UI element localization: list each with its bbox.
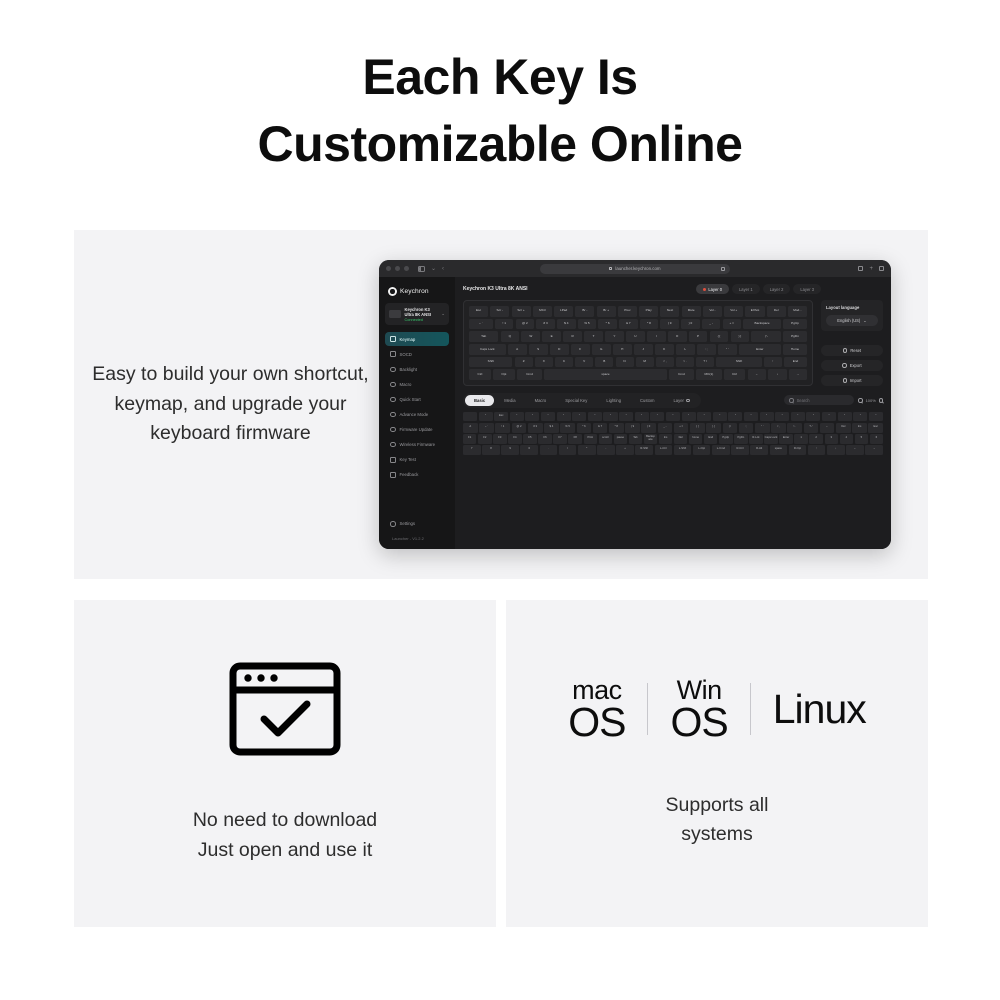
key-picker-key[interactable]: + [616, 445, 634, 455]
sidebar-item-label: Feedback [400, 472, 419, 477]
sidebar-item-label: Settings [400, 521, 416, 526]
key-picker-row: 7890./*-+R-ShftL-CtrlL-ShftL-OptL-CmdR-C… [463, 445, 883, 455]
keyboard-key[interactable]: Prev [618, 306, 637, 317]
export-icon [842, 363, 846, 367]
keyboard-key[interactable]: Mod... [788, 306, 807, 317]
export-button[interactable]: Export [821, 360, 883, 371]
keyboard-key[interactable]: ↑ [764, 357, 782, 368]
keyboard-key[interactable]: ↓ [768, 369, 786, 380]
keyboard-key[interactable]: F [571, 344, 590, 355]
key-picker-key[interactable]: ° [479, 412, 493, 422]
keyboard-key[interactable]: J [634, 344, 653, 355]
key-picker-key[interactable]: ° [806, 412, 820, 422]
macro-icon [390, 382, 396, 388]
keyboard-key[interactable]: X [535, 357, 553, 368]
sidebar-item-backlight[interactable]: Backlight [385, 362, 449, 376]
key-picker-key[interactable]: home [689, 434, 702, 444]
share-icon[interactable] [858, 266, 863, 271]
tab-layer[interactable]: Layer [664, 395, 698, 406]
key-picker-key[interactable]: ° [869, 412, 883, 422]
tab-label: Special Key [565, 398, 587, 403]
key-picker-key[interactable]: Esc [494, 412, 508, 422]
keyboard-key[interactable]: MO(1) [696, 369, 721, 380]
page-title: Each Key Is Customizable Online [0, 0, 1000, 177]
tab-lighting[interactable]: Lighting [597, 395, 630, 406]
sidebar-toggle-icon[interactable] [418, 266, 425, 272]
chevron-down-icon: ⌄ [863, 318, 866, 323]
advance-mode-icon [390, 412, 396, 418]
tab-label: Lighting [606, 398, 621, 403]
keyboard-key[interactable]: Del [767, 306, 786, 317]
key-picker-key[interactable] [463, 412, 477, 422]
key-picker-key[interactable]: * 8 [609, 423, 624, 433]
key-picker-key[interactable]: { [ [690, 423, 705, 433]
key-picker-key[interactable]: F7 [553, 434, 566, 444]
sidebar-item-macro[interactable]: Macro [385, 377, 449, 391]
sidebar-item-firmware-update[interactable]: Firmware Update [385, 423, 449, 437]
reset-icon [843, 348, 847, 352]
address-bar[interactable]: launcher.keychron.com [540, 264, 730, 274]
key-picker-key[interactable]: pause [614, 434, 627, 444]
keyboard-key[interactable]: ! 1 [495, 319, 514, 330]
key-picker-key[interactable]: # 3 [528, 423, 543, 433]
tab-label: Media [504, 398, 515, 403]
key-picker-key[interactable]: 0 [520, 445, 538, 455]
browser-window: ⌄ ‹ launcher.keychron.com + [379, 260, 891, 549]
key-picker-key[interactable]: scroll [599, 434, 612, 444]
backlight-icon [390, 367, 396, 373]
key-picker-key[interactable]: ° [603, 412, 617, 422]
keyboard-key[interactable]: → [789, 369, 807, 380]
keyboard-key[interactable]: @ 2 [516, 319, 535, 330]
layout-language-select[interactable]: English (US) ⌄ [826, 315, 878, 326]
keyboard-key[interactable]: < , [656, 357, 674, 368]
zoom-controls: 100% [858, 398, 883, 403]
key-picker-key[interactable]: ° [728, 412, 742, 422]
key-picker-key[interactable]: R-Lck [749, 434, 762, 444]
window-traffic-lights[interactable] [386, 266, 409, 271]
key-picker-key[interactable]: ° [713, 412, 727, 422]
key-picker-key[interactable]: ° [588, 412, 602, 422]
key-picker-key[interactable]: 2 [809, 434, 822, 444]
keychron-logo-icon [388, 287, 397, 296]
keyboard-key[interactable]: EXhot [745, 306, 764, 317]
keyboard-key[interactable]: ~ ` [469, 319, 493, 330]
keyboard-key[interactable]: Br - [575, 306, 594, 317]
key-picker-key[interactable]: " ' [755, 423, 770, 433]
os-macos: mac OS [568, 678, 625, 741]
panel-no-download: No need to download Just open and use it [74, 600, 496, 927]
browser-right-controls[interactable]: + [858, 266, 884, 272]
key-picker-key[interactable]: F3 [493, 434, 506, 444]
keyboard-key[interactable]: * 8 [640, 319, 659, 330]
tab-custom[interactable]: Custom [631, 395, 663, 406]
app-sidebar: Keychron Keychron K3 Ultra 8K ANSI Conne… [379, 277, 455, 549]
keyboard-key[interactable]: T [584, 331, 603, 342]
sidebar-item-label: Macro [400, 382, 412, 387]
keyboard-key[interactable]: Mute [682, 306, 701, 317]
key-picker-key[interactable]: F1 [463, 434, 476, 444]
keyboard-key[interactable]: M [636, 357, 654, 368]
key-picker-key[interactable]: . [540, 445, 558, 455]
keyboard-key[interactable]: A [508, 344, 527, 355]
zoom-in-icon[interactable] [879, 398, 883, 402]
key-picker-key[interactable]: Tab [629, 434, 642, 444]
keyboard-key[interactable]: N [616, 357, 634, 368]
keyboard-key[interactable]: } ] [731, 331, 750, 342]
keyboard-key[interactable]: Backspace [743, 319, 781, 330]
key-picker-key[interactable]: Ins [852, 423, 867, 433]
keyboard-key[interactable]: ? / [696, 357, 714, 368]
sidebar-item-socd[interactable]: SOCD [385, 347, 449, 361]
keyboard-key[interactable]: Vol + [724, 306, 743, 317]
export-button-label: Export [850, 363, 862, 368]
key-picker-key[interactable]: ↑ [808, 445, 826, 455]
keyboard-key[interactable]: ← [748, 369, 766, 380]
key-picker-key[interactable]: 9 [501, 445, 519, 455]
key-picker-key[interactable]: 4 [840, 434, 853, 444]
chevron-down-icon[interactable]: ⌄ [441, 311, 445, 317]
key-picker-key[interactable]: F5 [523, 434, 536, 444]
key-picker-key[interactable]: Caps Lock [764, 434, 777, 444]
keyboard-key[interactable]: " ' [718, 344, 737, 355]
layer-indicator-icon [703, 288, 706, 291]
sidebar-item-keymap[interactable]: Keymap [385, 332, 449, 346]
keyboard-key[interactable]: PgDn [783, 331, 807, 342]
tab-special-key[interactable]: Special Key [556, 395, 596, 406]
keyboard-key[interactable]: G [592, 344, 611, 355]
keymap-icon [390, 336, 396, 342]
keyboard-key[interactable]: Ctrl [469, 369, 491, 380]
key-picker-key[interactable]: ° [572, 412, 586, 422]
keyboard-key[interactable]: Caps Lock [469, 344, 506, 355]
tab-layer-3[interactable]: Layer 3 [793, 284, 821, 294]
no-download-caption-line-1: No need to download [193, 806, 377, 835]
key-picker-key[interactable]: ° [697, 412, 711, 422]
keyboard-key[interactable]: Z [515, 357, 533, 368]
key-picker-toolbar: Basic Media Macro Special Key Lighting C… [463, 393, 883, 408]
key-picker-key[interactable]: ? / [804, 423, 819, 433]
keyboard-key[interactable]: LPad [554, 306, 573, 317]
key-picker-key[interactable]: space [770, 445, 788, 455]
key-picker-key[interactable]: F4 [508, 434, 521, 444]
key-picker-key[interactable]: Del [674, 434, 687, 444]
headline-line-2: Customizable Online [0, 111, 1000, 178]
key-picker-key[interactable]: R-Ctrl [731, 445, 749, 455]
keyboard-key[interactable]: $ 4 [557, 319, 576, 330]
search-placeholder: Search [797, 398, 810, 403]
keyboard-key[interactable]: _ - [702, 319, 721, 330]
key-picker-grid[interactable]: °Esc°°°°°°°°°°°°°°°°°°°°°°°°A~ `! 1@ 2# … [463, 412, 883, 455]
keyboard-key[interactable]: ( 9 [660, 319, 679, 330]
sidebar-item-label: Quick Start [400, 397, 421, 402]
key-picker-key[interactable]: ← [846, 445, 864, 455]
keyboard-key[interactable]: I [647, 331, 666, 342]
keyboard-row: EscScr -Scr +MCtlLPadBr -Br +PrevPlayNex… [469, 306, 807, 317]
tab-media[interactable]: Media [495, 395, 524, 406]
keyboard-key[interactable]: K [655, 344, 674, 355]
keyboard-key[interactable]: P [689, 331, 708, 342]
reset-button-label: Reset [850, 348, 861, 353]
key-picker-key[interactable]: % 5 [560, 423, 575, 433]
tab-layer-0[interactable]: Layer 0 [696, 284, 729, 294]
sidebar-item-label: Keymap [400, 337, 416, 342]
keyboard-key[interactable]: L [676, 344, 695, 355]
keyboard-key[interactable]: Vol - [703, 306, 722, 317]
sidebar-item-quick-start[interactable]: Quick Start [385, 392, 449, 406]
no-download-caption: No need to download Just open and use it [193, 806, 377, 865]
tab-macro[interactable]: Macro [526, 395, 556, 406]
keyboard-key[interactable]: : ; [697, 344, 716, 355]
key-picker-key[interactable]: L-Ctrl [655, 445, 673, 455]
keyboard-key[interactable]: Next [660, 306, 679, 317]
tab-basic[interactable]: Basic [465, 395, 494, 406]
key-picker-key[interactable]: ↓ [827, 445, 845, 455]
key-picker-key[interactable]: Esc [868, 423, 883, 433]
key-picker-key[interactable]: _ - [658, 423, 673, 433]
keyboard-key[interactable]: C [555, 357, 573, 368]
divider [750, 683, 751, 735]
key-picker-key[interactable]: ° [619, 412, 633, 422]
key-picker-key[interactable]: - [597, 445, 615, 455]
keyboard-key[interactable]: Cmd [669, 369, 694, 380]
new-tab-icon[interactable]: + [869, 266, 873, 272]
keyboard-key[interactable]: H [613, 344, 632, 355]
keyboard-key[interactable]: O [668, 331, 687, 342]
layer-tab-label: Layer 1 [739, 287, 753, 292]
keyboard-key[interactable]: MCtl [533, 306, 552, 317]
key-picker-row: F1F2F3F4F5F6F7F8PrintscrollpauseTabBacks… [463, 434, 883, 444]
sidebar-item-label: Firmware Update [400, 427, 433, 432]
key-picker-key[interactable]: 3 [825, 434, 838, 444]
key-picker-key[interactable]: ° [510, 412, 524, 422]
launcher-copy-line-2: own shortcut, [253, 363, 369, 385]
key-picker-key[interactable]: → [865, 445, 883, 455]
key-picker-key[interactable]: @ 2 [512, 423, 527, 433]
key-picker-key[interactable]: ° [541, 412, 555, 422]
keyboard-key[interactable]: & 7 [619, 319, 638, 330]
keyboard-key[interactable]: Shift [716, 357, 761, 368]
key-picker-key[interactable]: < , [771, 423, 786, 433]
key-picker-key[interactable]: ° [650, 412, 664, 422]
keyboard-key[interactable]: Cmd [517, 369, 542, 380]
import-button[interactable]: Import [821, 375, 883, 386]
keyboard-key[interactable]: B [595, 357, 613, 368]
key-picker-key[interactable]: 8 [482, 445, 500, 455]
chevron-down-icon[interactable]: ⌄ [431, 266, 436, 272]
keyboard-key[interactable]: W [521, 331, 540, 342]
panel-launcher: Easy to build your own shortcut, keymap,… [74, 230, 928, 579]
keyboard-layout[interactable]: EscScr -Scr +MCtlLPadBr -Br +PrevPlayNex… [463, 300, 813, 386]
key-picker-key[interactable]: F6 [538, 434, 551, 444]
key-picker-key[interactable]: / [559, 445, 577, 455]
keyboard-key[interactable]: S [529, 344, 548, 355]
key-picker-key[interactable]: ~ ` [479, 423, 494, 433]
key-picker-key[interactable]: ° [853, 412, 867, 422]
import-icon [843, 378, 847, 382]
key-picker-key[interactable]: ! 1 [495, 423, 510, 433]
key-picker-key[interactable]: PgUp [719, 434, 732, 444]
layer-tab-label: Layer 3 [800, 287, 814, 292]
key-picker-key[interactable]: | \ [723, 423, 738, 433]
reset-button[interactable]: Reset [821, 345, 883, 356]
no-download-caption-line-2: Just open and use it [193, 836, 377, 865]
key-picker-key[interactable]: ° [775, 412, 789, 422]
keyboard-key[interactable]: Enter [739, 344, 781, 355]
feedback-icon [390, 472, 396, 478]
keyboard-key[interactable]: Br + [597, 306, 616, 317]
tab-layer-1[interactable]: Layer 1 [732, 284, 760, 294]
keyboard-key[interactable]: > . [676, 357, 694, 368]
browser-check-icon [229, 662, 341, 756]
key-picker-key[interactable]: L-Shft [674, 445, 692, 455]
os-macos-suffix: OS [568, 704, 625, 741]
keyboard-key[interactable]: % 5 [578, 319, 597, 330]
key-picker-key[interactable]: ° [791, 412, 805, 422]
device-selector[interactable]: Keychron K3 Ultra 8K ANSI Connected ⌄ [385, 303, 449, 325]
key-picker-key[interactable]: Ins [659, 434, 672, 444]
keyboard-key[interactable]: space [544, 369, 666, 380]
close-icon[interactable] [386, 266, 391, 271]
reload-icon[interactable] [721, 267, 725, 271]
key-picker-key[interactable]: 5 [855, 434, 868, 444]
search-icon [789, 398, 793, 402]
key-picker-key[interactable]: Print [584, 434, 597, 444]
brand-logo: Keychron [385, 285, 449, 303]
keyboard-key[interactable]: + = [723, 319, 742, 330]
key-picker-key[interactable]: A [463, 423, 478, 433]
key-picker-key[interactable]: 6 [870, 434, 883, 444]
keyboard-key[interactable]: E [542, 331, 561, 342]
zoom-out-icon[interactable] [858, 398, 862, 402]
key-picker-key[interactable]: ( 9 [625, 423, 640, 433]
keyboard-key[interactable]: Tab [469, 331, 498, 342]
key-picker-key[interactable]: R-Shft [635, 445, 653, 455]
key-picker-key[interactable]: F2 [478, 434, 491, 444]
key-picker-key[interactable]: ^ 6 [577, 423, 592, 433]
sidebar-item-settings[interactable]: Settings [385, 517, 449, 531]
key-picker-key[interactable]: ° [525, 412, 539, 422]
keyboard-key[interactable]: Play [639, 306, 658, 317]
sidebar-item-wireless-firmware[interactable]: Wireless Firmware [385, 438, 449, 452]
sidebar-item-label: Backlight [400, 367, 417, 372]
keyboard-key[interactable]: End [784, 357, 807, 368]
sidebar-item-feedback[interactable]: Feedback [385, 468, 449, 482]
keyboard-key[interactable]: Scr - [490, 306, 509, 317]
back-chevron-icon[interactable]: ‹ [442, 266, 444, 272]
keyboard-key[interactable]: U [626, 331, 645, 342]
zoom-level: 100% [866, 398, 876, 403]
launcher-copy-line-1: Easy to build your [92, 363, 247, 385]
keyboard-key[interactable]: ^ 6 [598, 319, 617, 330]
tab-overview-icon[interactable] [879, 266, 884, 271]
keyboard-key[interactable]: Home [783, 344, 807, 355]
supports-caption-line-1: Supports all [666, 791, 769, 820]
search-input[interactable]: Search [784, 395, 854, 405]
key-picker-key[interactable]: : ; [739, 423, 754, 433]
key-picker-key[interactable]: ° [635, 412, 649, 422]
key-picker-key[interactable]: 7 [463, 445, 481, 455]
key-picker-key[interactable]: L-Cmd [712, 445, 730, 455]
headline-line-1: Each Key Is [0, 44, 1000, 111]
keyboard-thumbnail-icon [389, 310, 401, 318]
keyboard-key[interactable]: PgUp [783, 319, 807, 330]
key-picker-key[interactable]: ° [822, 412, 836, 422]
keyboard-key[interactable]: Q [501, 331, 520, 342]
app-body: Keychron Keychron K3 Ultra 8K ANSI Conne… [379, 277, 891, 549]
key-picker-key[interactable]: F8 [568, 434, 581, 444]
minimize-icon[interactable] [395, 266, 400, 271]
key-picker-key[interactable]: R-Alt [750, 445, 768, 455]
sidebar-footer: Settings Launcher - V1.2.2 [385, 517, 449, 543]
sidebar-item-advance-mode[interactable]: Advance Mode [385, 407, 449, 421]
sidebar-item-key-test[interactable]: Key Test [385, 453, 449, 467]
keymap-actions: Reset Export Import [821, 345, 883, 386]
keyboard-key[interactable]: # 3 [536, 319, 555, 330]
key-picker-key[interactable]: Del [836, 423, 851, 433]
keyboard-key[interactable]: { [ [710, 331, 729, 342]
key-picker-key[interactable]: * [578, 445, 596, 455]
browser-nav-controls[interactable]: ⌄ ‹ [418, 266, 444, 272]
key-picker-key[interactable]: & 7 [593, 423, 608, 433]
tab-layer-2[interactable]: Layer 2 [763, 284, 791, 294]
keyboard-key[interactable]: Opt [493, 369, 515, 380]
keymap-side-panel: Layout language English (US) ⌄ [821, 300, 883, 386]
key-picker-tabs: Basic Media Macro Special Key Lighting C… [463, 393, 701, 408]
keyboard-key[interactable]: Ctrl [724, 369, 746, 380]
key-picker-key[interactable]: $ 4 [544, 423, 559, 433]
key-picker-key[interactable]: L-Opt [693, 445, 711, 455]
key-picker-key[interactable]: ° [838, 412, 852, 422]
key-picker: Basic Media Macro Special Key Lighting C… [463, 393, 883, 549]
socd-icon [390, 351, 396, 357]
key-picker-key[interactable]: PgDn [734, 434, 747, 444]
key-picker-key[interactable]: ° [682, 412, 696, 422]
keyboard-key[interactable]: Scr + [512, 306, 531, 317]
wireless-firmware-icon [390, 442, 396, 448]
key-picker-key[interactable]: ) 0 [641, 423, 656, 433]
key-picker-key[interactable]: Backsp ace [644, 434, 657, 444]
keyboard-key[interactable]: D [550, 344, 569, 355]
key-picker-key[interactable]: } ] [706, 423, 721, 433]
sidebar-item-label: Wireless Firmware [400, 442, 436, 447]
tab-label: Layer [673, 398, 683, 403]
launcher-copy-line-5: firmware [236, 422, 311, 444]
key-picker-key[interactable]: ° [666, 412, 680, 422]
keyboard-key[interactable]: | \ [751, 331, 780, 342]
key-picker-key[interactable]: ← [820, 423, 835, 433]
maximize-icon[interactable] [404, 266, 409, 271]
keyboard-key[interactable]: R [563, 331, 582, 342]
firmware-update-icon [390, 427, 396, 433]
key-picker-key[interactable]: + = [674, 423, 689, 433]
key-picker-key[interactable]: R-Opt [789, 445, 807, 455]
sidebar-item-label: SOCD [400, 352, 412, 357]
keyboard-key[interactable]: Esc [469, 306, 488, 317]
key-picker-key[interactable]: ° [557, 412, 571, 422]
keyboard-key[interactable]: V [575, 357, 593, 368]
keyboard-key[interactable]: Shift [469, 357, 512, 368]
keyboard-key[interactable]: ) 0 [681, 319, 700, 330]
key-picker-key[interactable]: 1 [794, 434, 807, 444]
key-picker-key[interactable]: End [704, 434, 717, 444]
tab-label: Macro [535, 398, 547, 403]
key-picker-key[interactable]: > . [787, 423, 802, 433]
keyboard-key[interactable]: Y [605, 331, 624, 342]
key-picker-key[interactable]: ° [744, 412, 758, 422]
key-picker-key[interactable]: Enter [779, 434, 792, 444]
key-picker-key[interactable]: ° [760, 412, 774, 422]
